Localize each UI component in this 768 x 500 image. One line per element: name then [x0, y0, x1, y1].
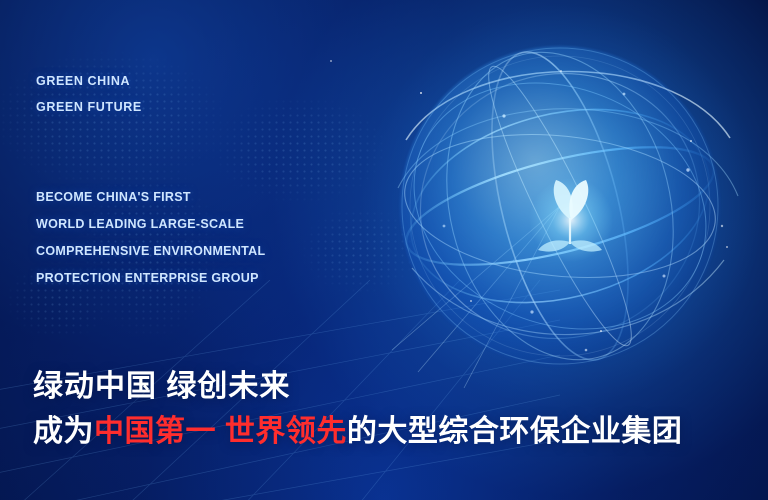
headline-chinese: 绿动中国 绿创未来 成为中国第一 世界领先的大型综合环保企业集团 [33, 364, 682, 454]
globe-icon [372, 20, 768, 400]
sparkle-icon [470, 300, 472, 302]
headline-line-1: 绿动中国 绿创未来 [33, 364, 682, 409]
subhead-line-3: COMPREHENSIVE ENVIRONMENTAL [36, 238, 265, 265]
subhead-line-2: WORLD LEADING LARGE-SCALE [36, 211, 265, 238]
headline-suffix: 的大型综合环保企业集团 [347, 415, 683, 448]
eyebrow-line-1: GREEN CHINA [36, 68, 142, 94]
subhead-line-1: BECOME CHINA'S FIRST [36, 184, 265, 211]
banner-image: GREEN CHINA GREEN FUTURE BECOME CHINA'S … [0, 0, 768, 500]
sparkle-icon [726, 246, 728, 248]
sparkle-icon [330, 60, 332, 62]
sparkle-icon [420, 92, 422, 94]
subhead-line-4: PROTECTION ENTERPRISE GROUP [36, 265, 265, 292]
sprout-icon [516, 158, 626, 268]
sparkle-icon [690, 140, 692, 142]
subhead-english: BECOME CHINA'S FIRST WORLD LEADING LARGE… [36, 184, 265, 292]
headline-line-2: 成为中国第一 世界领先的大型综合环保企业集团 [33, 409, 682, 454]
headline-accent: 中国第一 世界领先 [94, 415, 347, 448]
eyebrow-text: GREEN CHINA GREEN FUTURE [36, 68, 142, 120]
headline-prefix: 成为 [33, 415, 94, 448]
eyebrow-line-2: GREEN FUTURE [36, 94, 142, 120]
sparkle-icon [600, 330, 602, 332]
sparkle-icon [560, 70, 562, 72]
